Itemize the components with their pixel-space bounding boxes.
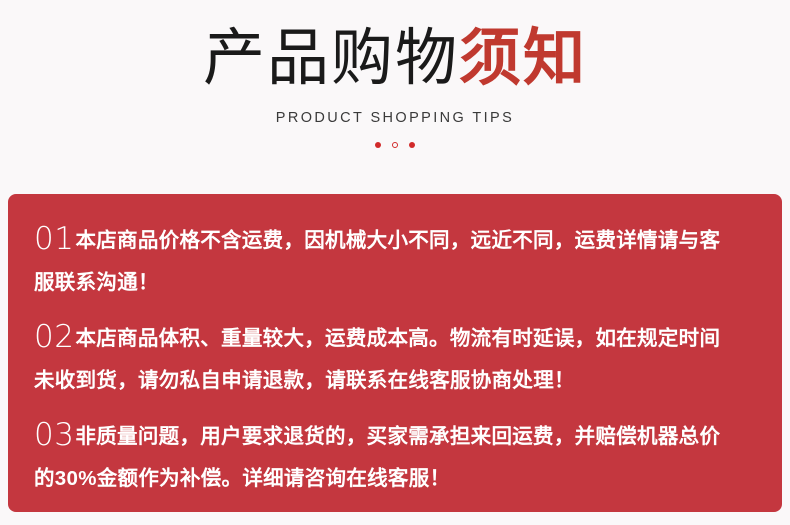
notice-line-03-first: 03非质量问题，用户要求退货的，买家需承担来回运费，并赔偿机器总价 xyxy=(34,414,756,458)
notice-text-01-line1: 本店商品价格不含运费，因机械大小不同，远近不同，运费详情请与客 xyxy=(75,229,720,252)
notice-item-03: 03非质量问题，用户要求退货的，买家需承担来回运费，并赔偿机器总价 的30%金额… xyxy=(34,414,756,500)
notice-item-02: 02本店商品体积、重量较大，运费成本高。物流有时延误，如在规定时间 未收到货，请… xyxy=(34,316,756,402)
notice-line-02-second: 未收到货，请勿私自申请退款，请联系在线客服协商处理！ xyxy=(34,360,756,402)
notice-number-02: 02 xyxy=(34,319,74,355)
page-header: 产品购物须知 PRODUCT SHOPPING TIPS xyxy=(0,0,790,150)
notice-number-03: 03 xyxy=(34,417,74,453)
dot-solid-right xyxy=(409,142,415,148)
page-title-plain: 产品购物 xyxy=(203,24,459,93)
notice-text-02-line2: 未收到货，请勿私自申请退款，请联系在线客服协商处理！ xyxy=(34,369,575,392)
notice-line-02-first: 02本店商品体积、重量较大，运费成本高。物流有时延误，如在规定时间 xyxy=(34,316,756,360)
page-subtitle: PRODUCT SHOPPING TIPS xyxy=(0,110,790,126)
page-title-accent: 须知 xyxy=(459,24,587,93)
notice-line-01-second: 服联系沟通！ xyxy=(34,262,756,304)
notice-line-03-second: 的30%金额作为补偿。详细请咨询在线客服！ xyxy=(34,458,756,500)
notice-text-03-line1: 非质量问题，用户要求退货的，买家需承担来回运费，并赔偿机器总价 xyxy=(75,425,720,448)
page-title: 产品购物须知 xyxy=(0,22,790,96)
notice-text-02-line1: 本店商品体积、重量较大，运费成本高。物流有时延误，如在规定时间 xyxy=(75,327,720,350)
notice-text-01-line2: 服联系沟通！ xyxy=(34,271,159,294)
notice-line-01-first: 01本店商品价格不含运费，因机械大小不同，远近不同，运费详情请与客 xyxy=(34,218,756,262)
dot-hollow-center xyxy=(392,142,398,148)
notice-text-03-line2: 的30%金额作为补偿。详细请咨询在线客服！ xyxy=(34,467,450,490)
decorative-dots xyxy=(0,140,790,150)
notice-panel: 01本店商品价格不含运费，因机械大小不同，远近不同，运费详情请与客 服联系沟通！… xyxy=(8,194,782,512)
dot-solid-left xyxy=(375,142,381,148)
notice-item-01: 01本店商品价格不含运费，因机械大小不同，远近不同，运费详情请与客 服联系沟通！ xyxy=(34,218,756,304)
notice-number-01: 01 xyxy=(34,221,74,257)
